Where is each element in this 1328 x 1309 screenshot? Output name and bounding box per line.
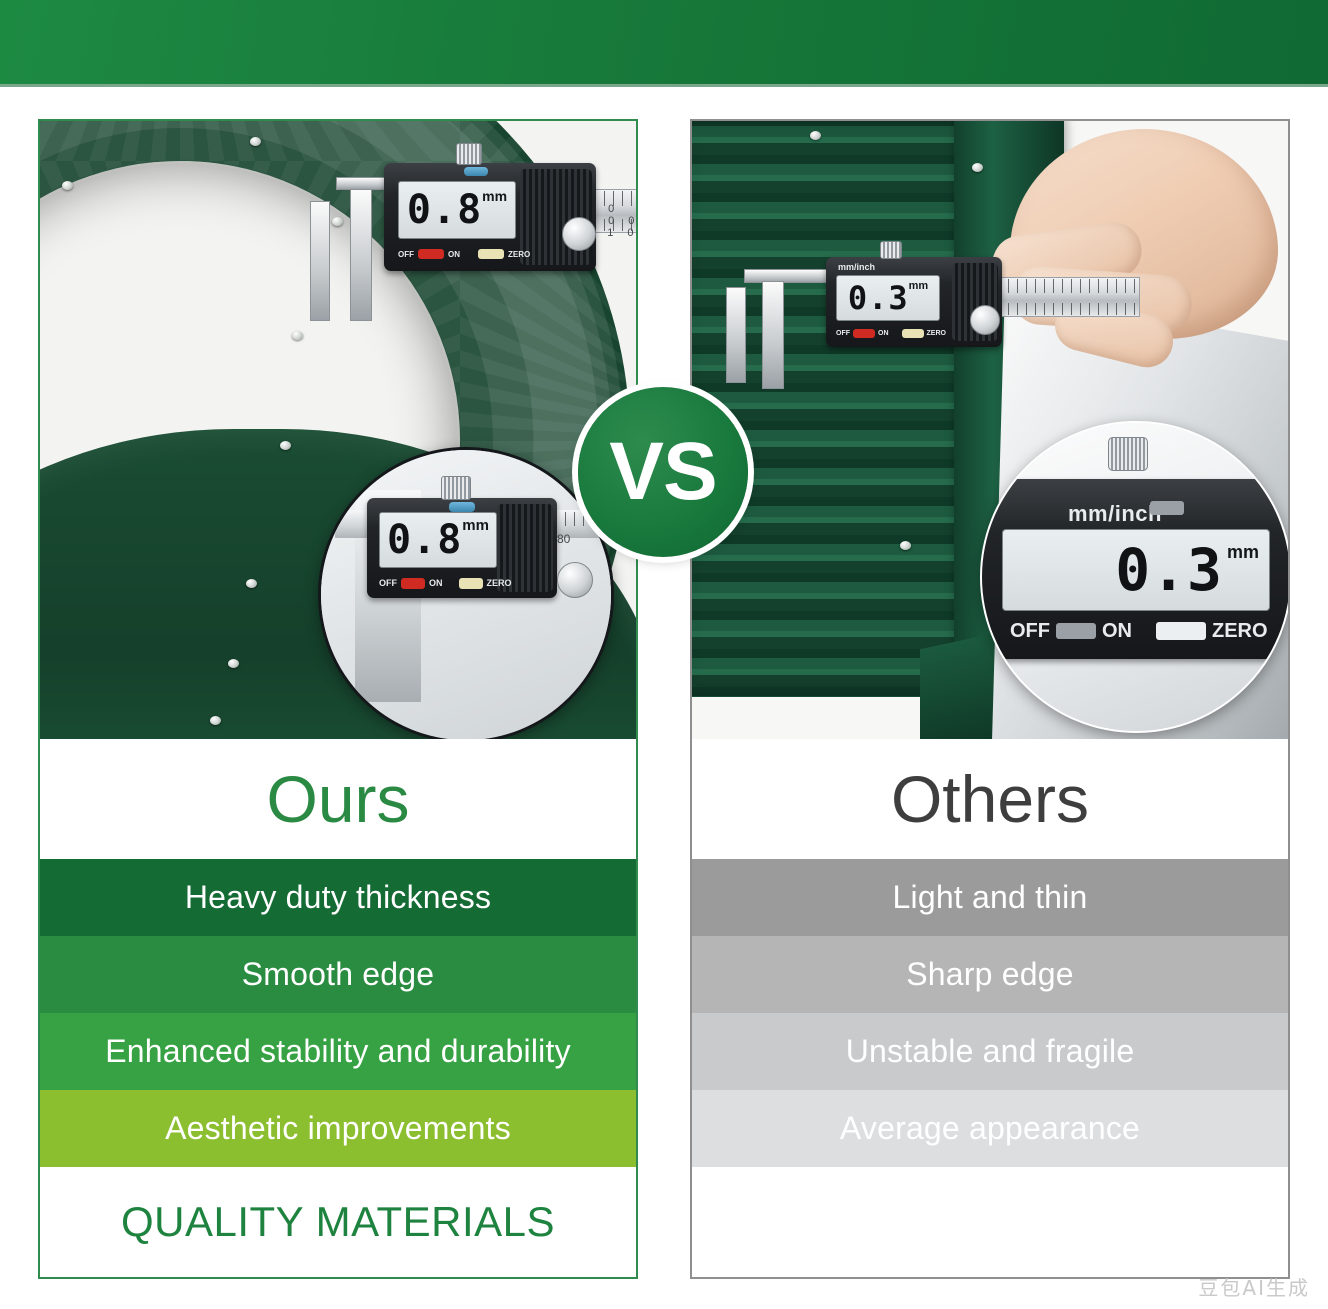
bed-bolt bbox=[292, 331, 303, 340]
magnifier-mode-button[interactable] bbox=[1150, 501, 1184, 515]
caliper-off-label: OFF bbox=[398, 250, 414, 259]
magnifier-reading: 0.3 bbox=[1115, 541, 1223, 599]
ours-heading: Ours bbox=[40, 739, 636, 859]
caliper-mode-button[interactable] bbox=[464, 167, 488, 176]
others-feature-label: Unstable and fragile bbox=[846, 1033, 1135, 1070]
magnifier-off-label: OFF bbox=[379, 578, 397, 588]
magnifier-thumb-roller[interactable] bbox=[557, 562, 593, 598]
caliper-upper-jaw bbox=[744, 269, 832, 283]
watermark: 豆包AI生成 bbox=[1198, 1272, 1310, 1301]
others-photo: mm/inch 0.3 mm OFF ON ZERO bbox=[692, 121, 1288, 739]
magnifier-button-row: OFF ON ZERO bbox=[1010, 619, 1288, 643]
caliper-lower-jaw bbox=[762, 281, 784, 389]
ours-feature-row: Smooth edge bbox=[40, 936, 636, 1013]
others-feature-row: Unstable and fragile bbox=[692, 1013, 1288, 1090]
magnifier-caliper-body: mm/inch 0.3 mm OFF ON ZERO bbox=[980, 479, 1288, 659]
others-footer bbox=[692, 1167, 1288, 1277]
others-feature-row: Average appearance bbox=[692, 1090, 1288, 1167]
ours-heading-label: Ours bbox=[266, 766, 409, 832]
caliper-reading: 0.8 bbox=[407, 190, 482, 230]
caliper-thumb-roller[interactable] bbox=[562, 217, 596, 251]
caliper-lower-jaw bbox=[350, 189, 372, 321]
caliper-off-label: OFF bbox=[836, 330, 850, 337]
caliper-lock-screw[interactable] bbox=[456, 143, 482, 165]
bed-bolt bbox=[280, 441, 291, 450]
caliper-power-switch[interactable] bbox=[853, 329, 875, 338]
others-feature-label: Average appearance bbox=[840, 1110, 1140, 1147]
vs-badge-label: VS bbox=[609, 431, 716, 513]
magnifier-on-label: ON bbox=[1102, 620, 1132, 643]
caliper-zero-label: ZERO bbox=[508, 250, 530, 259]
magnifier-power-switch[interactable] bbox=[401, 578, 425, 589]
panel-bolt bbox=[972, 163, 983, 172]
magnifier-button-row: OFF ON ZERO bbox=[379, 576, 539, 590]
ours-panel: 80 100 110 0.8 mm OFF ON ZERO bbox=[38, 119, 638, 1279]
caliper-on-label: ON bbox=[878, 330, 889, 337]
panel-bolt bbox=[900, 541, 911, 550]
ours-feature-row: Enhanced stability and durability bbox=[40, 1013, 636, 1090]
bed-bolt bbox=[228, 659, 239, 668]
magnifier-unit: mm bbox=[462, 517, 489, 534]
bed-bolt bbox=[250, 137, 261, 146]
magnifier-unit: mm bbox=[1227, 542, 1259, 563]
magnifier-mode-button[interactable] bbox=[449, 502, 475, 512]
caliper-reading: 0.3 bbox=[848, 282, 909, 314]
caliper-power-switch[interactable] bbox=[418, 249, 444, 259]
caliper-unit: mm bbox=[482, 188, 507, 204]
magnifier-scale-labels: 80 bbox=[557, 532, 570, 546]
caliper-others: mm/inch 0.3 mm OFF ON ZERO bbox=[722, 241, 1142, 381]
caliper-display: 0.3 mm bbox=[836, 275, 940, 321]
magnifier-display: 0.3 mm bbox=[1002, 529, 1270, 611]
caliper-body: 0.8 mm OFF ON ZERO bbox=[384, 163, 596, 271]
caliper-ours: 80 100 110 0.8 mm OFF ON ZERO bbox=[288, 141, 636, 321]
caliper-fixed-jaw bbox=[310, 201, 330, 321]
ours-feature-label: Smooth edge bbox=[242, 956, 435, 993]
ours-feature-row: Heavy duty thickness bbox=[40, 859, 636, 936]
caliper-zero-button[interactable] bbox=[478, 249, 504, 259]
ours-feature-label: Aesthetic improvements bbox=[165, 1110, 511, 1147]
bed-bolt bbox=[210, 716, 221, 725]
others-panel: mm/inch 0.3 mm OFF ON ZERO bbox=[690, 119, 1290, 1279]
vs-badge: VS bbox=[578, 387, 748, 557]
others-heading-label: Others bbox=[891, 766, 1089, 832]
bed-bolt bbox=[246, 579, 257, 588]
ours-photo: 80 100 110 0.8 mm OFF ON ZERO bbox=[40, 121, 636, 739]
caliper-on-label: ON bbox=[448, 250, 460, 259]
magnifier-lock-screw[interactable] bbox=[441, 476, 471, 500]
magnifier-zero-label: ZERO bbox=[1212, 620, 1268, 643]
corrugated-panel bbox=[692, 121, 991, 697]
magnifier-mode-label: mm/inch bbox=[1068, 501, 1162, 527]
magnifier-lock-screw[interactable] bbox=[1108, 437, 1148, 471]
magnifier-on-label: ON bbox=[429, 578, 443, 588]
panel-bolt bbox=[810, 131, 821, 140]
caliper-unit: mm bbox=[909, 280, 929, 292]
bed-bolt bbox=[62, 181, 73, 190]
magnifier-power-switch[interactable] bbox=[1056, 623, 1096, 639]
magnifier-zero-label: ZERO bbox=[487, 578, 512, 588]
quality-materials-label: QUALITY MATERIALS bbox=[121, 1198, 555, 1246]
magnifier-caliper-body: 0.8 mm OFF ON ZERO bbox=[367, 498, 557, 598]
ours-footer: QUALITY MATERIALS bbox=[40, 1167, 636, 1277]
caliper-button-row: OFF ON ZERO bbox=[836, 327, 986, 339]
magnifier-reading: 0.8 bbox=[387, 520, 462, 560]
others-heading: Others bbox=[692, 739, 1288, 859]
magnifier-others: mm/inch 0.3 mm OFF ON ZERO bbox=[980, 421, 1288, 733]
caliper-body: mm/inch 0.3 mm OFF ON ZERO bbox=[826, 257, 1002, 347]
caliper-zero-button[interactable] bbox=[902, 329, 924, 338]
ours-feature-label: Enhanced stability and durability bbox=[105, 1033, 571, 1070]
ours-feature-label: Heavy duty thickness bbox=[185, 879, 491, 916]
others-feature-row: Sharp edge bbox=[692, 936, 1288, 1013]
caliper-fixed-jaw bbox=[726, 287, 746, 383]
caliper-thumb-roller[interactable] bbox=[970, 305, 1000, 335]
top-green-banner bbox=[0, 0, 1328, 84]
others-feature-list: Light and thin Sharp edge Unstable and f… bbox=[692, 859, 1288, 1167]
caliper-mode-label: mm/inch bbox=[838, 262, 875, 272]
comparison-section: 80 100 110 0.8 mm OFF ON ZERO bbox=[0, 84, 1328, 1309]
magnifier-zero-button[interactable] bbox=[1156, 622, 1206, 640]
others-feature-label: Sharp edge bbox=[906, 956, 1073, 993]
magnifier-off-label: OFF bbox=[1010, 620, 1050, 643]
magnifier-display: 0.8 mm bbox=[379, 512, 497, 568]
ours-feature-list: Heavy duty thickness Smooth edge Enhance… bbox=[40, 859, 636, 1167]
others-feature-row: Light and thin bbox=[692, 859, 1288, 936]
others-feature-label: Light and thin bbox=[893, 879, 1088, 916]
caliper-lock-screw[interactable] bbox=[880, 241, 902, 259]
caliper-button-row: OFF ON ZERO bbox=[398, 247, 558, 261]
caliper-zero-label: ZERO bbox=[927, 330, 946, 337]
ours-feature-row: Aesthetic improvements bbox=[40, 1090, 636, 1167]
magnifier-ours: 80 0.8 mm OFF ON ZERO bbox=[318, 447, 614, 739]
caliper-display: 0.8 mm bbox=[398, 181, 516, 239]
magnifier-zero-button[interactable] bbox=[459, 578, 483, 589]
